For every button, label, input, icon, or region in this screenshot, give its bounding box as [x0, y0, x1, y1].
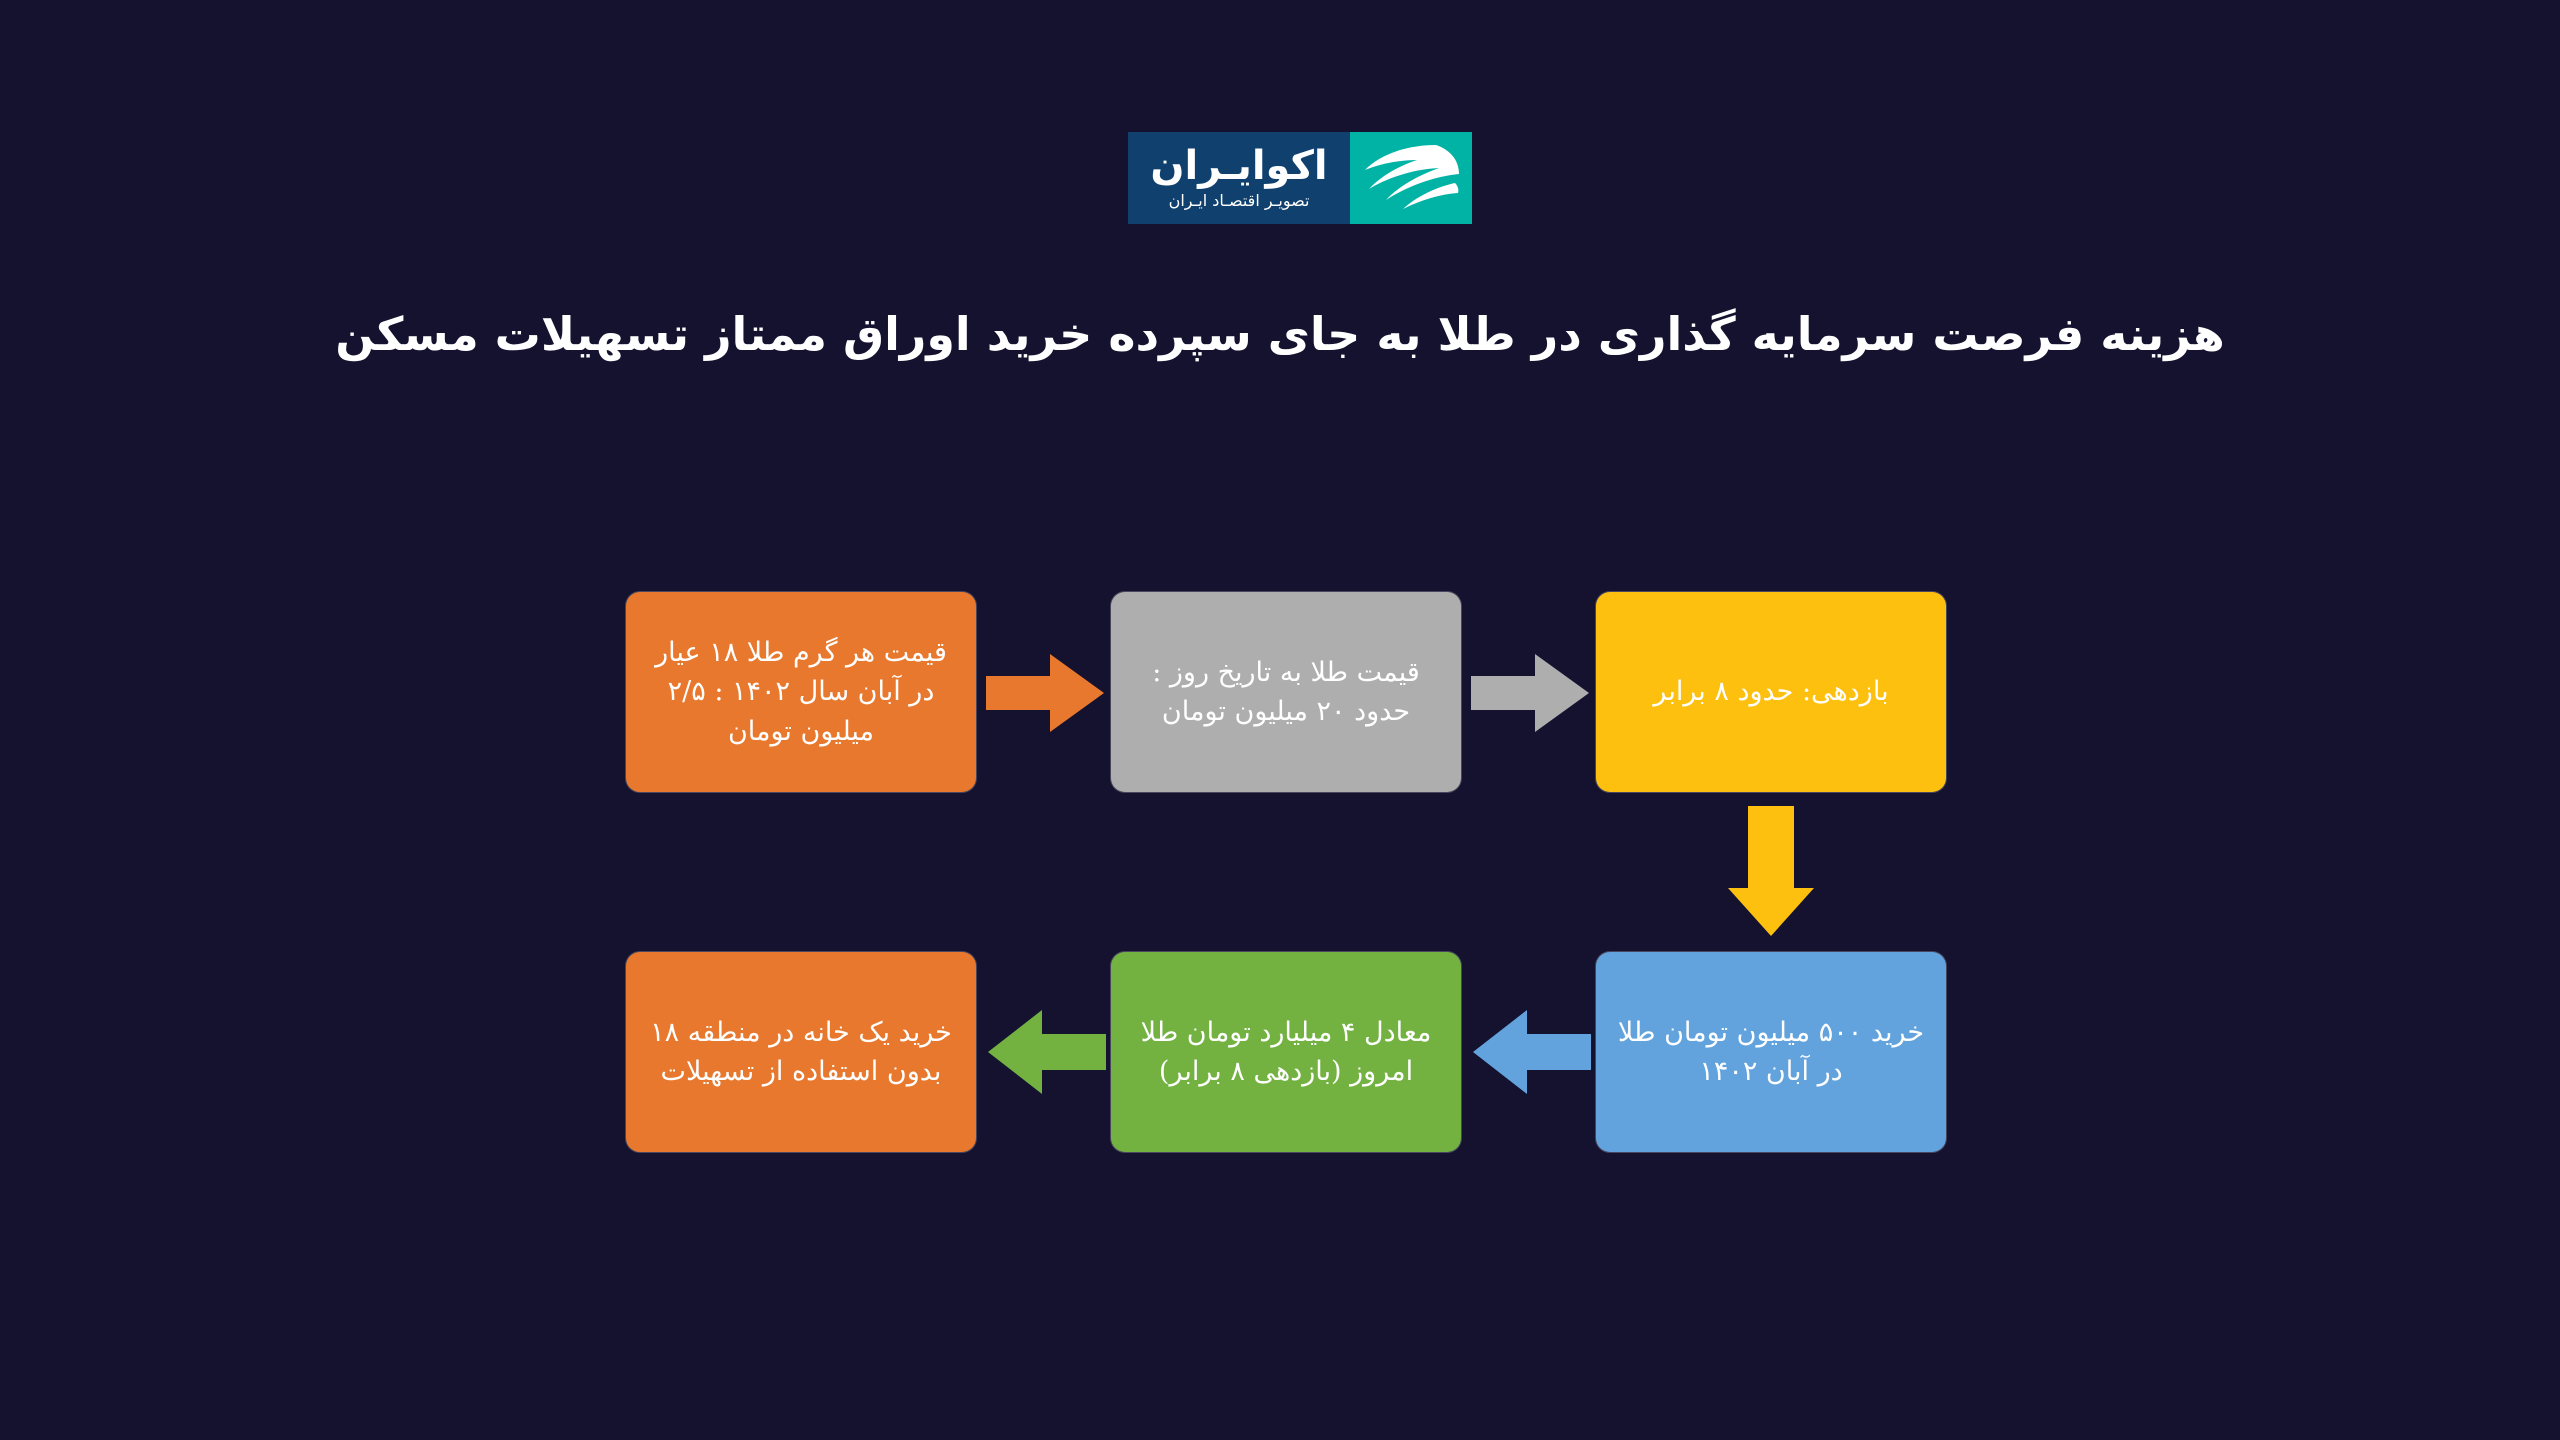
flow-node-buy-home-district-18[interactable]: خرید یک خانه در منطقه ۱۸ بدون استفاده از… [626, 952, 976, 1152]
flow-node-buy-500-million-gold[interactable]: خرید ۵۰۰ میلیون تومان طلا در آبان ۱۴۰۲ [1596, 952, 1946, 1152]
logo-name: اکوایـران [1150, 146, 1327, 186]
arrow-left-icon-1 [1473, 1010, 1591, 1094]
flow-diagram: قیمت هر گرم طلا ۱۸ عیار در آبان سال ۱۴۰۲… [626, 592, 1946, 1152]
arrow-down-icon-1 [1728, 806, 1814, 936]
arrow-left-icon-2 [988, 1010, 1106, 1094]
arrow-right-icon-2 [1471, 654, 1589, 732]
logo-tagline: تصویـر اقتصـاد ایـران [1169, 193, 1310, 209]
brand-logo[interactable]: اکوایـران تصویـر اقتصـاد ایـران [1128, 132, 1472, 224]
page-title: هزینه فرصت سرمایه گذاری در طلا به جای سپ… [0, 303, 2560, 365]
flow-node-gold-price-aban-1402[interactable]: قیمت هر گرم طلا ۱۸ عیار در آبان سال ۱۴۰۲… [626, 592, 976, 792]
logo-wordmark: اکوایـران تصویـر اقتصـاد ایـران [1128, 132, 1350, 224]
flow-node-return-multiple[interactable]: بازدهی: حدود ۸ برابر [1596, 592, 1946, 792]
flow-node-gold-price-today[interactable]: قیمت طلا به تاریخ روز : حدود ۲۰ میلیون ت… [1111, 592, 1461, 792]
flow-node-equivalent-4-billion-today[interactable]: معادل ۴ میلیارد تومان طلا امروز (بازدهی … [1111, 952, 1461, 1152]
eco-iran-wing-mark-icon [1350, 132, 1472, 224]
infographic-canvas: اکوایـران تصویـر اقتصـاد ایـران هزینه فر… [0, 0, 2560, 1440]
arrow-right-icon-1 [986, 654, 1104, 732]
